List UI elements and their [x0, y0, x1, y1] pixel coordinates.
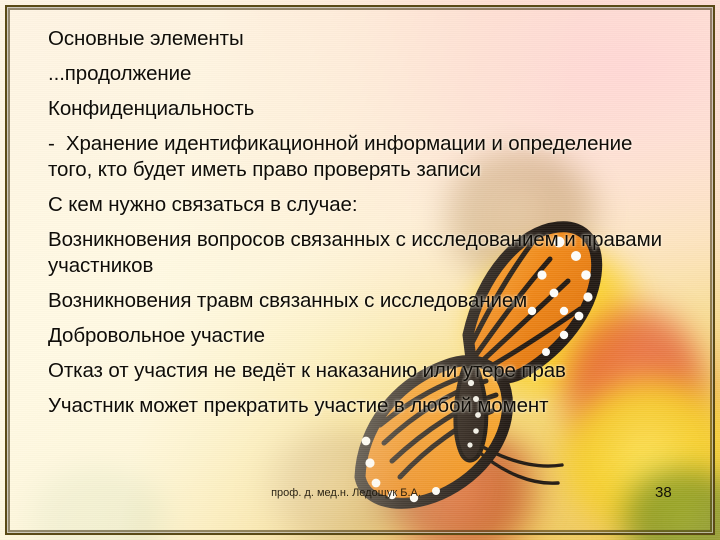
- slide-paragraph-6: Отказ от участия не ведёт к наказанию ил…: [48, 358, 678, 384]
- slide-title-line-3: Конфиденциальность: [48, 96, 678, 122]
- presentation-slide: Основные элементы ...продолжение Конфиде…: [0, 0, 720, 540]
- slide-paragraph-4: Возникновения травм связанных с исследов…: [48, 288, 678, 314]
- slide-paragraph-2: С кем нужно связаться в случае:: [48, 192, 678, 218]
- slide-title-line-2: ...продолжение: [48, 61, 678, 87]
- slide-page-number: 38: [655, 484, 695, 502]
- slide-paragraph-1: - Хранение идентификационной информации …: [48, 131, 678, 183]
- slide-paragraph-7: Участник может прекратить участие в любо…: [48, 393, 678, 419]
- slide-paragraph-5: Добровольное участие: [48, 323, 678, 349]
- slide-title-line-1: Основные элементы: [48, 26, 678, 52]
- slide-footer-author: проф. д. мед.н. Ледощук Б.А.: [196, 486, 496, 500]
- slide-paragraph-3: Возникновения вопросов связанных с иссле…: [48, 227, 678, 279]
- slide-text-body: Основные элементы ...продолжение Конфиде…: [48, 26, 678, 419]
